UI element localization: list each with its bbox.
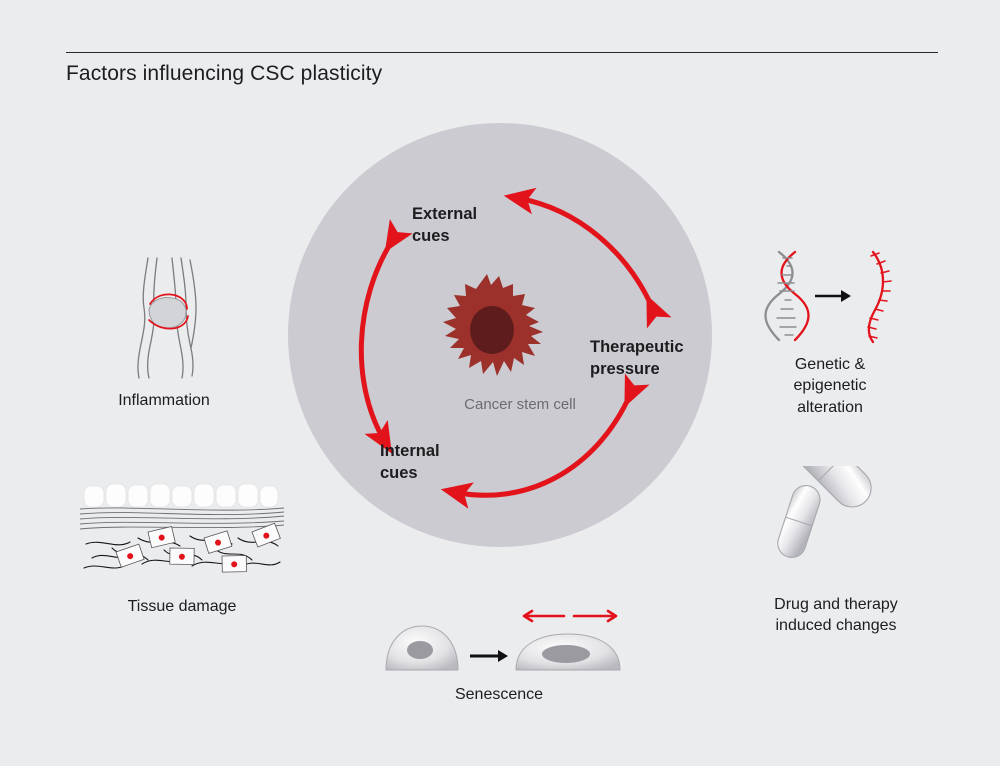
ring-label-internal-cues: Internal cues [380,441,440,485]
page-title: Factors influencing CSC plasticity [66,62,382,86]
factor-tissue-damage: Tissue damage [64,478,300,617]
transition-arrow [470,650,508,662]
dna-to-rna-icon [755,248,905,348]
factor-drug-therapy: Drug and therapy induced changes [716,466,956,637]
transcription-arrow [815,290,851,302]
title-divider [66,52,938,53]
capsule-pills-icon [761,466,911,586]
ring-label-therapeutic-pressure: Therapeutic pressure [590,337,684,381]
factor-label-tissue-damage: Tissue damage [64,596,300,617]
factor-senescence: Senescence [368,608,630,705]
factor-inflammation: Inflammation [64,252,264,411]
arrow-internal-to-external [361,241,392,442]
inflamed-joint-icon [104,252,224,380]
factor-label-inflammation: Inflammation [64,390,264,411]
cancer-stem-cell-caption: Cancer stem cell [430,396,610,413]
factor-genetic-epigenetic: Genetic & epigenetic alteration [742,248,918,418]
senescent-cell-icon [374,608,624,676]
damaged-skin-tissue-icon [72,478,292,588]
figure-canvas: Factors influencing CSC plasticity Exter… [0,0,1000,766]
factor-label-senescence: Senescence [368,684,630,705]
ring-label-external-cues: External cues [412,204,477,248]
factor-label-genetic-epigenetic: Genetic & epigenetic alteration [742,354,918,418]
cancer-stem-cell-icon [425,268,565,400]
factor-label-drug-therapy: Drug and therapy induced changes [716,594,956,637]
